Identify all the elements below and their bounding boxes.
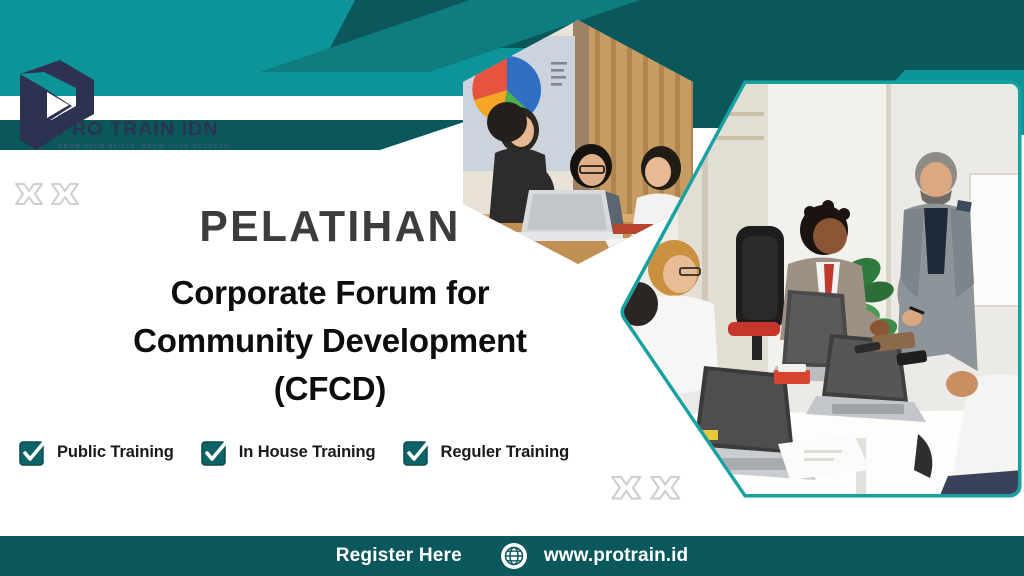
register-here-label[interactable]: Register Here: [336, 545, 462, 567]
training-option-label: Reguler Training: [441, 443, 570, 462]
brand-tagline: GROW YOUR SKILLS, GROW YOUR SUCCESS: [58, 144, 248, 150]
training-option-public[interactable]: Public Training: [18, 437, 174, 467]
globe-icon: [500, 542, 528, 570]
promo-banner: PRO TRAIN IDN GROW YOUR SKILLS, GROW YOU…: [0, 0, 1024, 576]
page-title: Corporate Forum for Community Developmen…: [115, 269, 545, 413]
training-option-label: Public Training: [57, 443, 174, 462]
checkbox-checked-icon[interactable]: [18, 437, 48, 467]
checkbox-checked-icon[interactable]: [402, 437, 432, 467]
brand-name: PRO TRAIN IDN: [58, 120, 248, 140]
website-url[interactable]: www.protrain.id: [544, 545, 688, 567]
photo-office-meeting: [618, 78, 1024, 500]
checkbox-checked-icon[interactable]: [200, 437, 230, 467]
training-option-reguler[interactable]: Reguler Training: [402, 437, 570, 467]
x-cross-pair-icon: [608, 472, 688, 510]
eyebrow-pelatihan: PELATIHAN: [10, 205, 650, 249]
headline-group: PELATIHAN Corporate Forum for Community …: [0, 205, 660, 413]
training-options-row: Public Training In House Training Regule…: [18, 437, 569, 467]
website-group[interactable]: www.protrain.id: [500, 542, 688, 570]
training-option-in-house[interactable]: In House Training: [200, 437, 376, 467]
footer-bar: Register Here www.protrain.id: [0, 536, 1024, 576]
training-option-label: In House Training: [239, 443, 376, 462]
brand-logo[interactable]: PRO TRAIN IDN GROW YOUR SKILLS, GROW YOU…: [14, 58, 244, 168]
